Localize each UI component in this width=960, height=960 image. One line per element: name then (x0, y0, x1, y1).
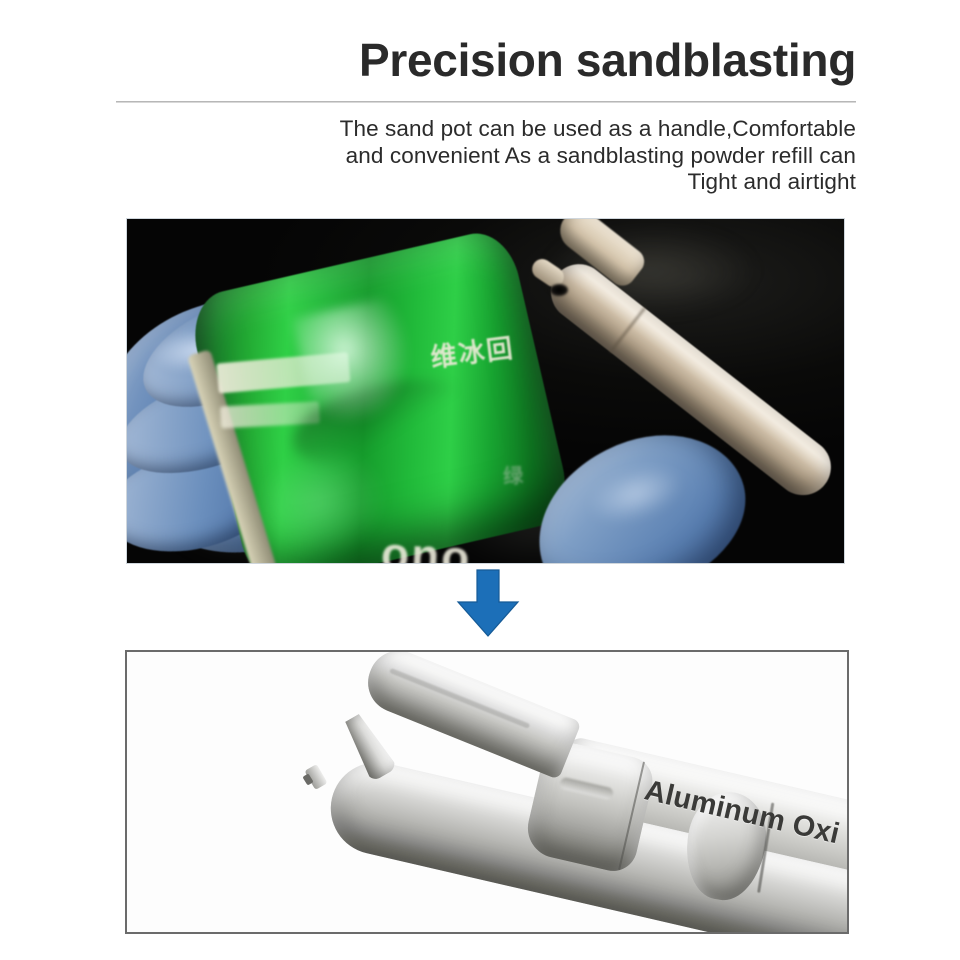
glove-right-highlight (581, 454, 691, 533)
etched-hole (550, 284, 568, 296)
subtitle-block: The sand pot can be used as a handle,Com… (216, 116, 856, 196)
bottom-photo-scene: Aluminum Oxi (127, 652, 847, 932)
handpiece-neck-line (389, 668, 530, 729)
can-latin-text: ono (380, 526, 473, 564)
subtitle-line-2: and convenient As a sandblasting powder … (216, 143, 856, 170)
subtitle-line-1: The sand pot can be used as a handle,Com… (216, 116, 856, 143)
product-infographic-page: Precision sandblasting The sand pot can … (0, 0, 960, 960)
title-divider (116, 101, 856, 103)
subtitle-line-3: Tight and airtight (216, 169, 856, 196)
header: Precision sandblasting The sand pot can … (0, 0, 960, 205)
can-chinese-text-small: 绿 (503, 459, 524, 489)
top-product-photo: 维冰回 绿 ono (126, 218, 845, 564)
can-secondary-highlight (244, 435, 397, 564)
top-photo-scene: 维冰回 绿 ono (127, 219, 844, 563)
bottom-product-photo: Aluminum Oxi (125, 650, 849, 934)
handpiece-seam (609, 307, 646, 353)
page-title: Precision sandblasting (359, 36, 856, 84)
green-beverage-can: 维冰回 绿 ono (185, 226, 574, 564)
can-chinese-text: 维冰回 (429, 328, 517, 375)
arrow-down-icon (455, 568, 521, 638)
handpiece-collar-groove (559, 776, 614, 800)
